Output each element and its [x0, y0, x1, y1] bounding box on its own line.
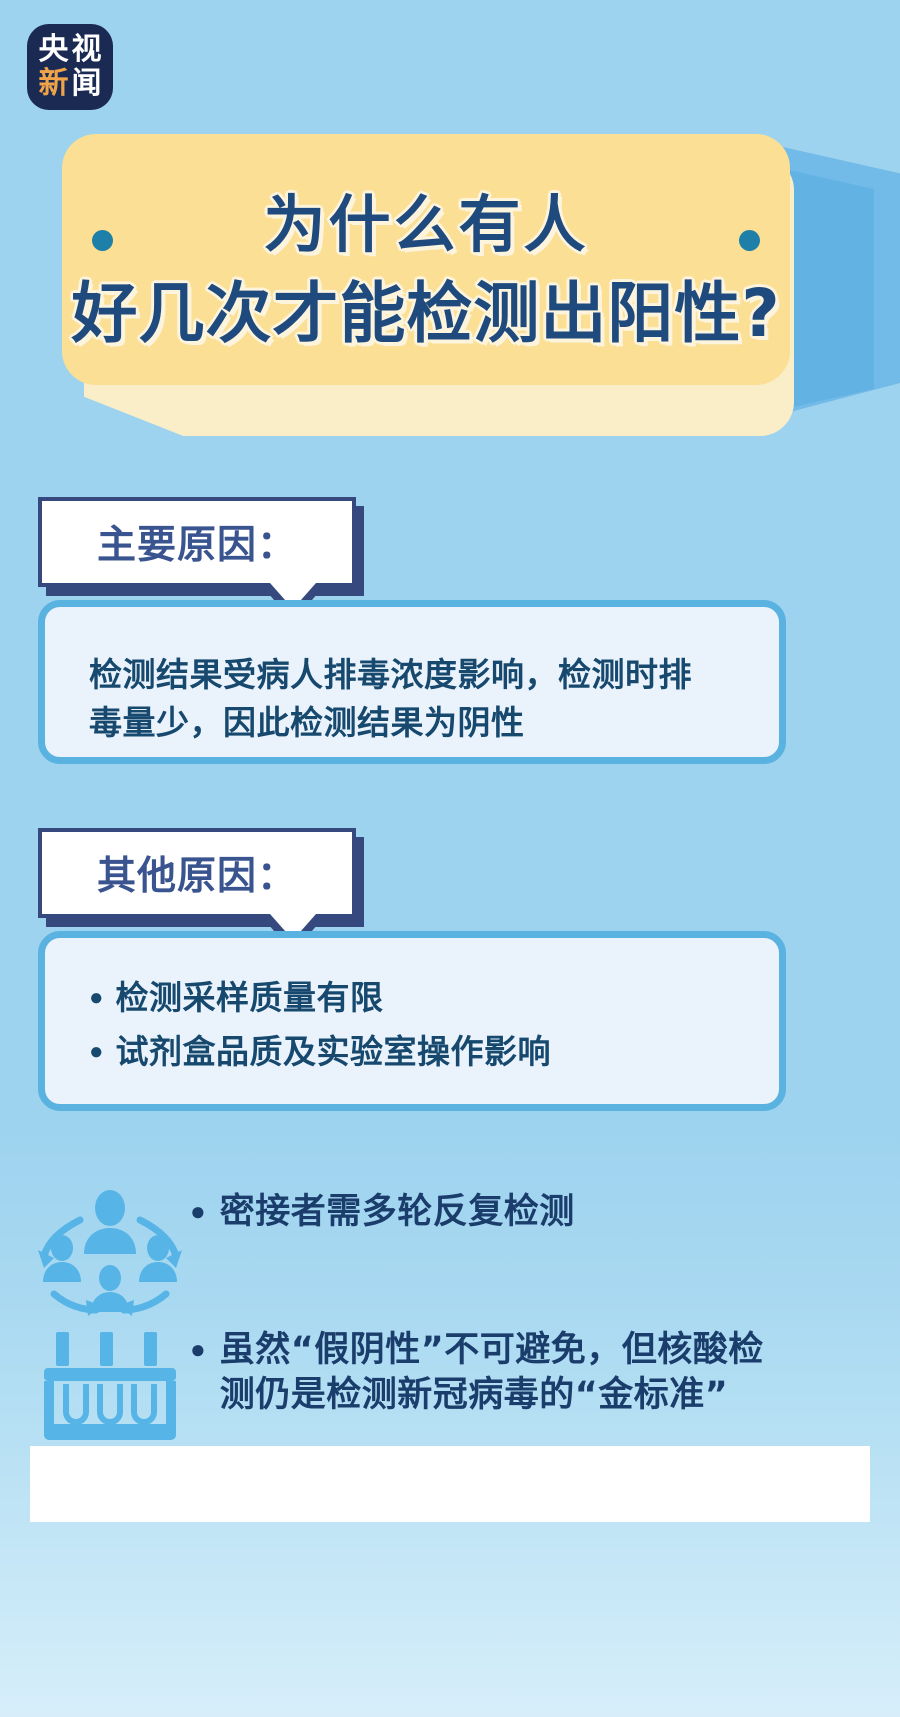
logo-line-2: 新闻 [37, 67, 105, 101]
bullet-icon: ● [190, 1190, 206, 1232]
other-reason-text-1: 检测采样质量有限 [116, 974, 384, 1022]
cctv-news-logo: 央视 新闻 [27, 24, 113, 110]
main-reason-line-2: 毒量少，因此检测结果为阴性 [89, 699, 739, 747]
bullet-icon: ● [89, 1028, 104, 1076]
other-reason-item-1: ● 检测采样质量有限 [89, 974, 739, 1022]
title-card: 为什么有人 好几次才能检测出阳性? [62, 134, 790, 385]
bullet-icon: ● [190, 1328, 206, 1370]
label-text: 其他原因： [97, 845, 297, 901]
other-reason-text-2: 试剂盒品质及实验室操作影响 [116, 1028, 552, 1076]
conclusion-text-2-line-1: 虽然“假阴性”不可避免，但核酸检 [220, 1328, 764, 1373]
logo-char-shi: 视 [70, 33, 103, 66]
bullet-icon: ● [89, 974, 104, 1022]
label-text: 主要原因： [97, 514, 297, 570]
content-card-other-reason: ● 检测采样质量有限 ● 试剂盒品质及实验室操作影响 [38, 931, 786, 1111]
conclusion-text-1: 密接者需多轮反复检测 [220, 1190, 575, 1235]
other-reason-item-2: ● 试剂盒品质及实验室操作影响 [89, 1028, 739, 1076]
people-group-cycle-icon [30, 1190, 190, 1320]
conclusion-text-block-2: 虽然“假阴性”不可避免，但核酸检 测仍是检测新冠病毒的“金标准” [220, 1328, 764, 1418]
title-line-2: 好几次才能检测出阳性? [62, 260, 790, 356]
content-card-main-reason: 检测结果受病人排毒浓度影响，检测时排 毒量少，因此检测结果为阴性 [38, 600, 786, 764]
logo-line-1: 央视 [37, 33, 105, 67]
infographic-poster: 央视 新闻 为什么有人 好几次才能检测出阳性? 主要原因： 检测结果受病人 [0, 0, 900, 1717]
main-reason-line-1: 检测结果受病人排毒浓度影响，检测时排 [89, 651, 739, 699]
conclusion-row-2: ● 虽然“假阴性”不可避免，但核酸检 测仍是检测新冠病毒的“金标准” [30, 1328, 764, 1448]
label-box: 其他原因： [38, 828, 356, 918]
logo-char-yang: 央 [37, 33, 70, 66]
title-line-1: 为什么有人 [62, 174, 790, 264]
logo-char-wen: 闻 [70, 67, 103, 100]
section-label-main-reason: 主要原因： [38, 497, 356, 587]
section-other-reason: 其他原因： [38, 828, 356, 918]
logo-char-xin: 新 [37, 67, 70, 100]
conclusion-row-1: ● 密接者需多轮反复检测 [30, 1190, 575, 1320]
bottom-white-strip [30, 1446, 870, 1522]
test-tube-rack-icon [30, 1328, 190, 1448]
section-main-reason: 主要原因： [38, 497, 356, 587]
section-label-other-reason: 其他原因： [38, 828, 356, 918]
title-block: 为什么有人 好几次才能检测出阳性? [62, 134, 828, 424]
conclusion-text-2-line-2: 测仍是检测新冠病毒的“金标准” [220, 1373, 764, 1418]
label-box: 主要原因： [38, 497, 356, 587]
conclusion-panel: ● 密接者需多轮反复检测 [30, 1160, 870, 1480]
